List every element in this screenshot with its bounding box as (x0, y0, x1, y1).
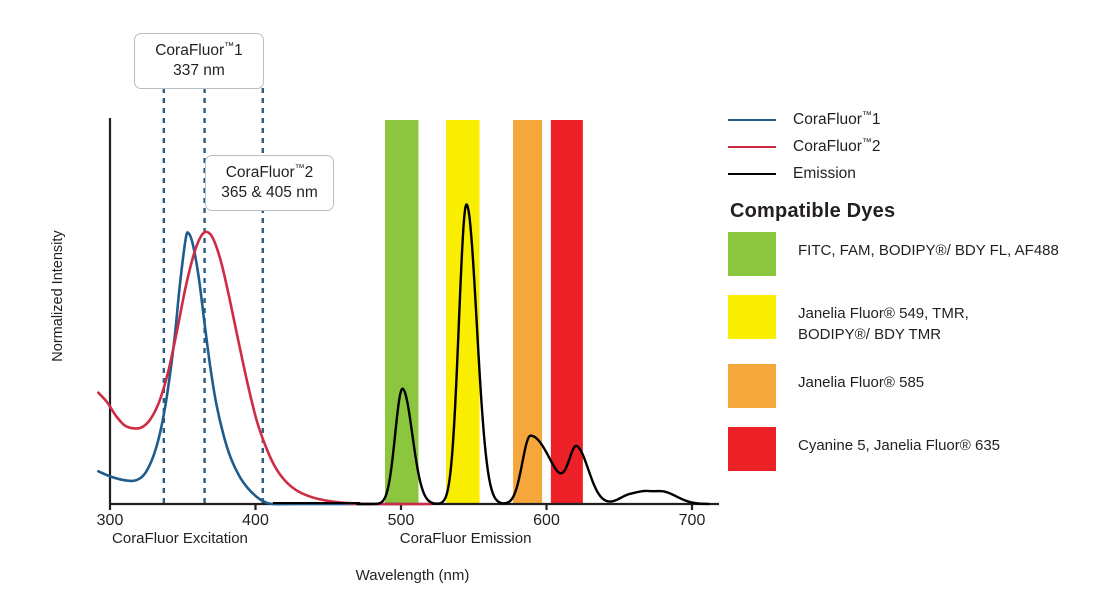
trademark-glyph: ™ (224, 41, 234, 52)
dye-item-label: Janelia Fluor® 549, TMR,BODIPY®/ BDY TMR (798, 295, 969, 345)
dye-color-swatch (728, 364, 776, 408)
dye-item-label: Cyanine 5, Janelia Fluor® 635 (798, 427, 1000, 457)
x-tick-label-300: 300 (97, 512, 124, 530)
compatible-dyes-list: FITC, FAM, BODIPY®/ BDY FL, AF488Janelia… (728, 232, 1110, 490)
dye-item-label: Janelia Fluor® 585 (798, 364, 924, 394)
legend-item-3: Emission (728, 160, 1110, 187)
x-axis-title: Wavelength (nm) (0, 567, 825, 584)
callout-corafluor-2: CoraFluor™2 365 & 405 nm (205, 155, 334, 211)
y-axis-label: Normalized Intensity (50, 196, 66, 396)
dye-item-2: Janelia Fluor® 549, TMR,BODIPY®/ BDY TMR (728, 295, 1110, 345)
fluorescence-spectra-figure: Normalized Intensity Wavelength (nm) Cor… (0, 0, 1110, 612)
series-legend: CoraFluor™1CoraFluor™2Emission (728, 106, 1110, 187)
legend-item-label: Emission (793, 165, 856, 183)
trademark-glyph: ™ (862, 137, 872, 148)
dye-color-swatch (728, 295, 776, 339)
legend-item-1: CoraFluor™1 (728, 106, 1110, 133)
dye-item-label: FITC, FAM, BODIPY®/ BDY FL, AF488 (798, 232, 1059, 262)
dye-label-line2: BODIPY®/ BDY TMR (798, 325, 969, 346)
dye-color-swatch (728, 232, 776, 276)
plot-area: Normalized Intensity Wavelength (nm) Cor… (0, 0, 730, 612)
dye-item-1: FITC, FAM, BODIPY®/ BDY FL, AF488 (728, 232, 1110, 276)
x-axis-group-excitation: CoraFluor Excitation (112, 530, 248, 547)
legend-swatch-line (728, 119, 776, 121)
x-tick-label-500: 500 (388, 512, 415, 530)
trademark-glyph: ™ (295, 163, 305, 174)
x-tick-label-700: 700 (679, 512, 706, 530)
x-tick-label-400: 400 (242, 512, 269, 530)
emission-band-yellow (446, 120, 479, 504)
dye-item-3: Janelia Fluor® 585 (728, 364, 1110, 408)
dye-item-4: Cyanine 5, Janelia Fluor® 635 (728, 427, 1110, 471)
callout-corafluor-1: CoraFluor™1 337 nm (134, 33, 264, 89)
x-tick-label-600: 600 (533, 512, 560, 530)
callout-2-title: CoraFluor™2 (216, 163, 323, 183)
emission-band-orange (513, 120, 542, 504)
legend-item-label: CoraFluor™2 (793, 137, 881, 156)
trademark-glyph: ™ (862, 110, 872, 121)
legend-swatch-line (728, 173, 776, 175)
dye-color-swatch (728, 427, 776, 471)
dye-label-line1: Cyanine 5, Janelia Fluor® 635 (798, 436, 1000, 457)
curve-CoraFluor2 (98, 232, 430, 504)
compatible-dyes-heading: Compatible Dyes (730, 200, 895, 223)
dye-label-line1: FITC, FAM, BODIPY®/ BDY FL, AF488 (798, 241, 1059, 262)
legend-swatch-line (728, 146, 776, 148)
callout-1-value: 337 nm (145, 61, 253, 80)
dye-label-line1: Janelia Fluor® 585 (798, 373, 924, 394)
x-axis-group-emission: CoraFluor Emission (400, 530, 532, 547)
legend-item-label: CoraFluor™1 (793, 110, 881, 129)
curve-CoraFluor1 (98, 232, 401, 504)
legend-item-2: CoraFluor™2 (728, 133, 1110, 160)
callout-1-title: CoraFluor™1 (145, 41, 253, 61)
dye-label-line1: Janelia Fluor® 549, TMR, (798, 304, 969, 325)
callout-2-value: 365 & 405 nm (216, 183, 323, 202)
